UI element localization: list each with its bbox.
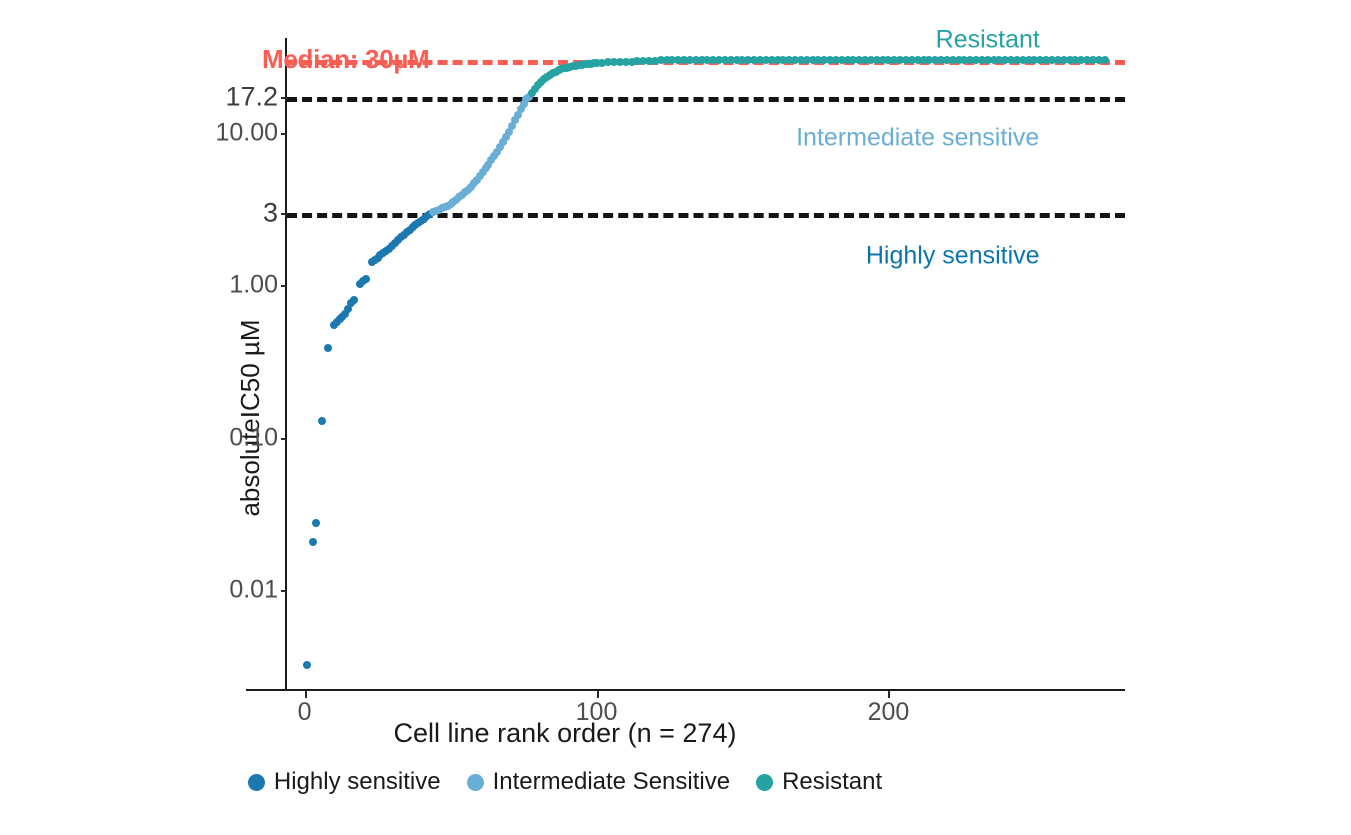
legend-dot-icon <box>467 774 484 791</box>
data-point <box>312 519 320 527</box>
region-label-resistant: Resistant <box>936 25 1040 54</box>
region-label-highly-sensitive: Highly sensitive <box>866 242 1040 271</box>
median-label: Median: 30µM <box>262 44 429 75</box>
data-point <box>1101 56 1109 64</box>
y-tick-mark <box>281 590 287 592</box>
chart-legend: Highly sensitiveIntermediate SensitiveRe… <box>0 768 1130 796</box>
x-tick-mark <box>888 691 890 698</box>
legend-item[interactable]: Highly sensitive <box>248 768 441 796</box>
threshold-line-upper-threshold <box>287 97 1125 102</box>
y-tick-label: 17.2 <box>225 84 278 111</box>
legend-label: Highly sensitive <box>274 768 441 796</box>
legend-label: Intermediate Sensitive <box>493 768 730 796</box>
region-label-intermediate-sensitive: Intermediate sensitive <box>796 124 1039 153</box>
legend-label: Resistant <box>782 768 882 796</box>
data-point <box>362 275 370 283</box>
plot-area: 0.010.101.00310.0017.20100200Median: 30µ… <box>287 38 1125 690</box>
data-point <box>303 661 311 669</box>
legend-dot-icon <box>248 774 265 791</box>
x-tick-mark <box>305 691 307 698</box>
legend-item[interactable]: Resistant <box>756 768 882 796</box>
y-tick-label: 1.00 <box>229 273 278 298</box>
y-tick-label: 0.10 <box>229 425 278 450</box>
y-axis-title: absoluteIC50 µM <box>235 319 266 516</box>
legend-item[interactable]: Intermediate Sensitive <box>467 768 730 796</box>
x-tick-mark <box>597 691 599 698</box>
chart-root: absoluteIC50 µM 0.010.101.00310.0017.201… <box>0 0 1351 835</box>
y-tick-mark <box>281 285 287 287</box>
y-tick-mark <box>281 438 287 440</box>
data-point <box>350 296 358 304</box>
y-tick-mark <box>281 133 287 135</box>
threshold-line-lower-threshold <box>287 213 1125 218</box>
legend-dot-icon <box>756 774 773 791</box>
y-tick-label: 3 <box>263 199 278 226</box>
x-axis-title: Cell line rank order (n = 274) <box>0 718 1130 749</box>
y-tick-label: 0.01 <box>229 577 278 602</box>
data-point <box>324 344 332 352</box>
data-point <box>309 538 317 546</box>
data-point <box>318 417 326 425</box>
y-tick-label: 10.00 <box>215 120 278 145</box>
